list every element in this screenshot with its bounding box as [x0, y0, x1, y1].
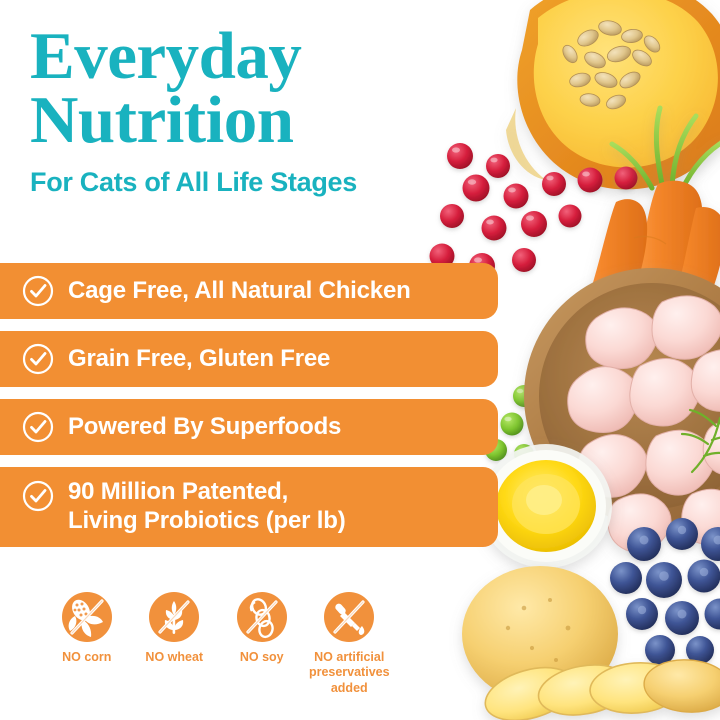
- benefit-bar: 90 Million Patented, Living Probiotics (…: [0, 467, 498, 547]
- claim-no-soy: NO soy: [219, 592, 305, 665]
- claim-label: NO soy: [219, 650, 305, 665]
- benefit-bar: Powered By Superfoods: [0, 399, 498, 455]
- claim-label: NO wheat: [132, 650, 218, 665]
- benefit-label: Grain Free, Gluten Free: [68, 345, 330, 374]
- carrots-image: [567, 108, 720, 411]
- claim-no-artificial-preservatives: NO artificial preservatives added: [307, 592, 393, 696]
- check-circle-icon: [22, 480, 54, 512]
- check-circle-icon: [22, 275, 54, 307]
- check-circle-icon: [22, 343, 54, 375]
- benefit-bar: Cage Free, All Natural Chicken: [0, 263, 498, 319]
- no-soy-icon: [237, 592, 287, 642]
- claim-no-wheat: NO wheat: [132, 592, 218, 665]
- page-title-line-1: Everyday: [30, 24, 500, 88]
- headline-block: Everyday Nutrition For Cats of All Life …: [30, 24, 500, 198]
- claim-label: NO corn: [44, 650, 130, 665]
- diced-chicken-pieces: [568, 296, 720, 552]
- benefit-label: 90 Million Patented, Living Probiotics (…: [68, 478, 345, 536]
- bowl-of-oil-image: [480, 444, 612, 568]
- no-artificial-preservatives-icon: [324, 592, 374, 642]
- page-title-line-2: Nutrition: [30, 88, 500, 152]
- infographic-canvas: Everyday Nutrition For Cats of All Life …: [0, 0, 720, 720]
- benefit-bar-list: Cage Free, All Natural Chicken Grain Fre…: [0, 263, 498, 559]
- claim-no-corn: NO corn: [44, 592, 130, 665]
- blueberries-image: [610, 518, 720, 665]
- benefit-label: Powered By Superfoods: [68, 413, 341, 442]
- no-wheat-icon: [149, 592, 199, 642]
- wooden-bowl-of-chicken-image: [524, 268, 720, 552]
- dill-sprig-icon: [682, 410, 720, 472]
- no-corn-icon: [62, 592, 112, 642]
- no-claims-row: NO corn NO wheat: [44, 592, 394, 696]
- check-circle-icon: [22, 411, 54, 443]
- carrot-greens: [612, 108, 720, 190]
- potato-with-slices-image: [462, 566, 720, 720]
- benefit-label: Cage Free, All Natural Chicken: [68, 277, 411, 306]
- pumpkin-wedge-image: [506, 0, 720, 189]
- page-subtitle: For Cats of All Life Stages: [30, 167, 500, 198]
- pumpkin-seeds: [560, 19, 663, 112]
- claim-label: NO artificial preservatives added: [307, 650, 393, 696]
- green-peas-image: [485, 376, 572, 536]
- benefit-bar: Grain Free, Gluten Free: [0, 331, 498, 387]
